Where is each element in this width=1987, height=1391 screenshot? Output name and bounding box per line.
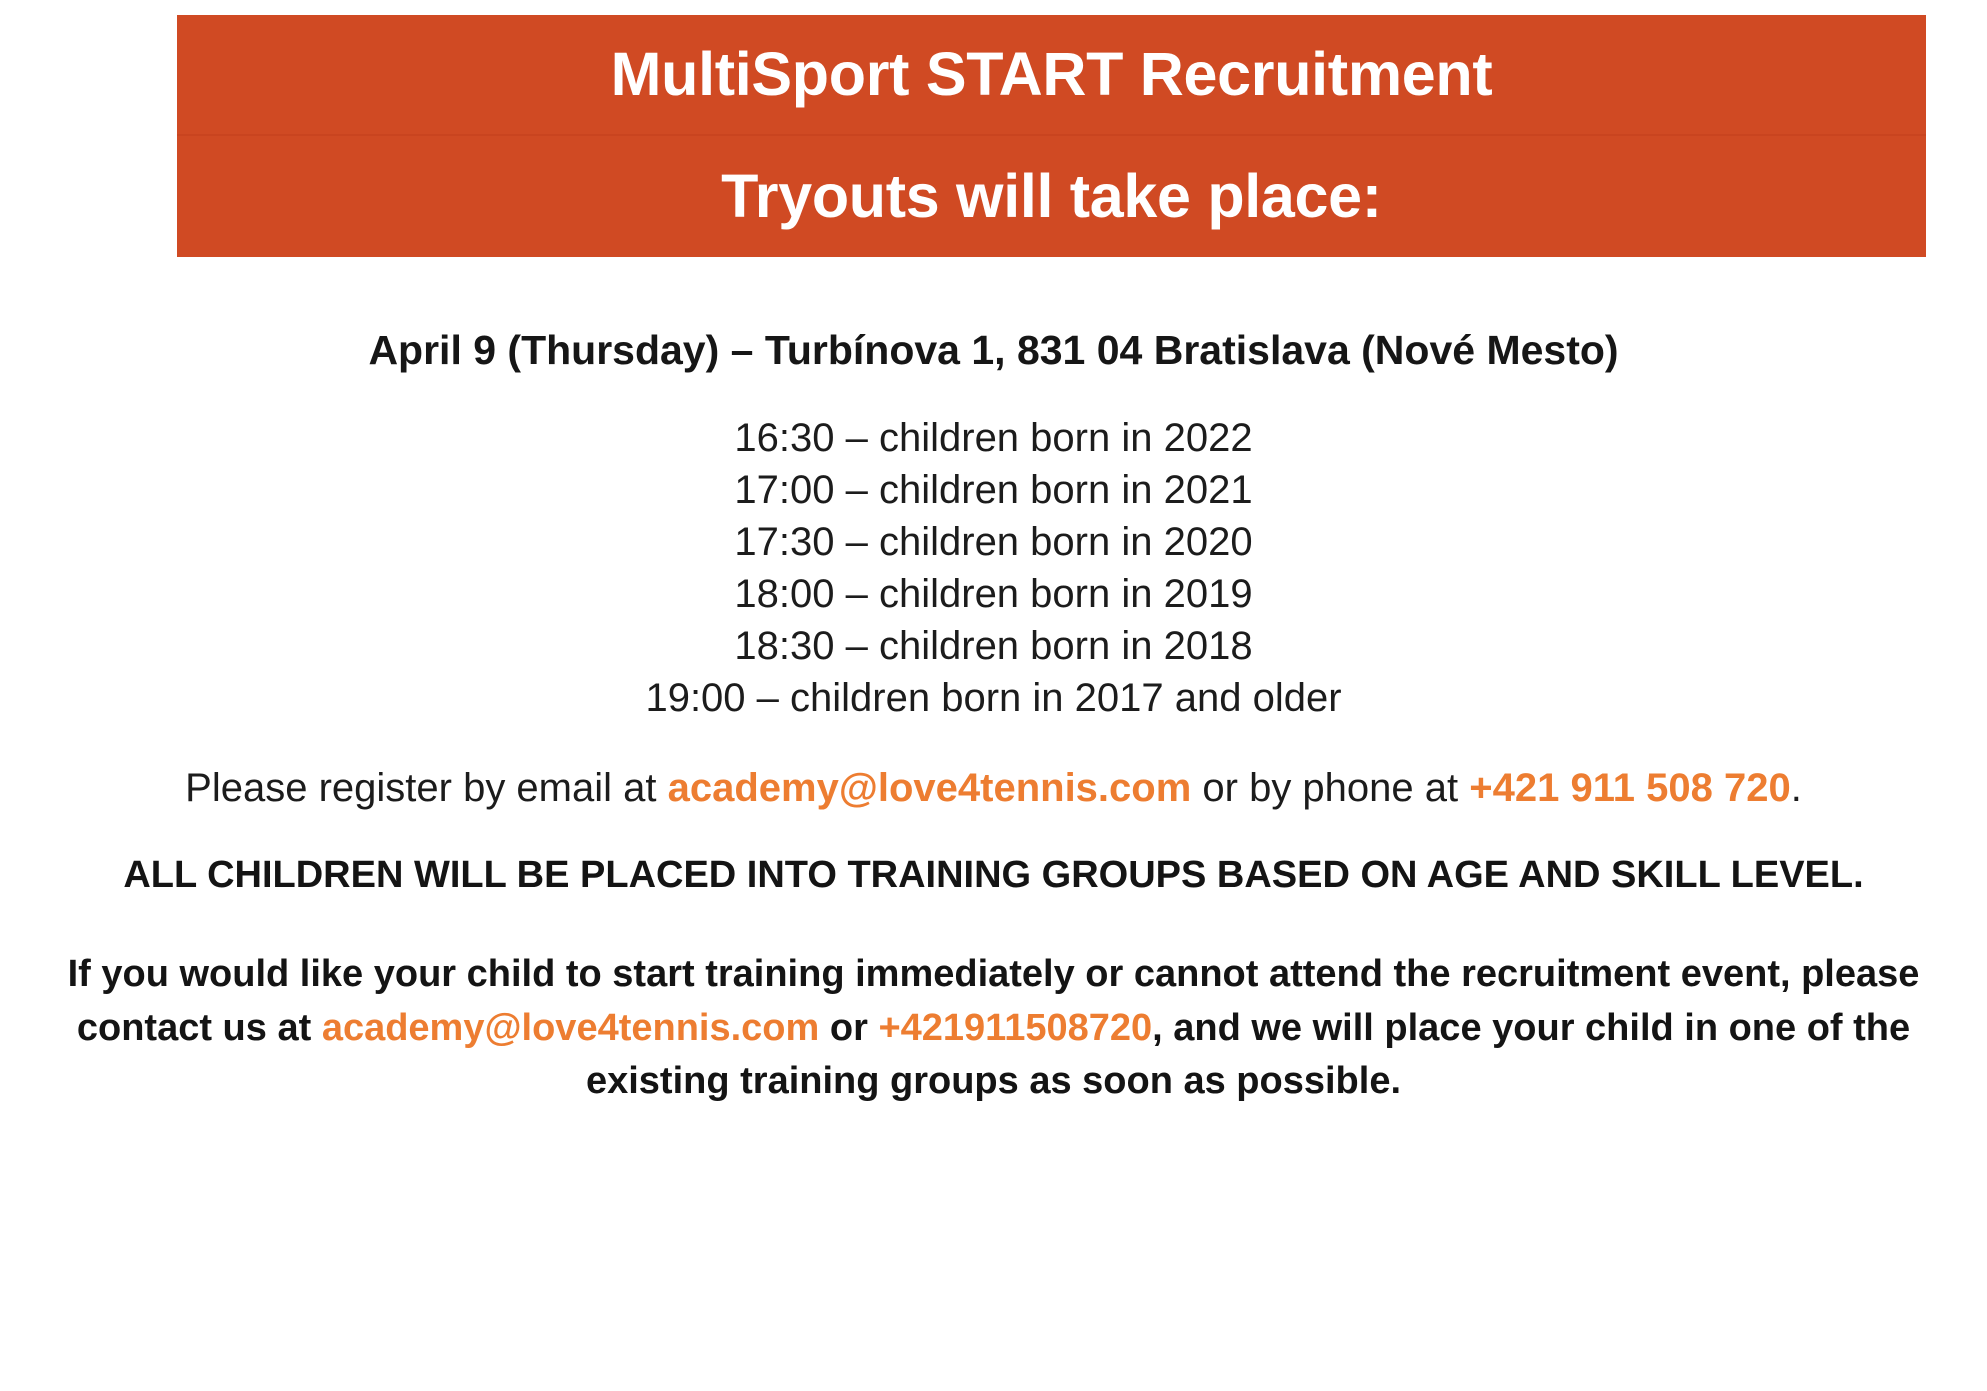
register-prefix-text: Please register by email at — [185, 766, 667, 810]
closing-phone-link[interactable]: +421911508720 — [878, 1007, 1152, 1049]
closing-email-link[interactable]: academy@love4tennis.com — [322, 1007, 820, 1049]
schedule-item: 18:00 – children born in 2019 — [0, 568, 1987, 620]
register-phone-link[interactable]: +421 911 508 720 — [1469, 766, 1790, 810]
schedule-item: 18:30 – children born in 2018 — [0, 620, 1987, 672]
flyer-page: MultiSport START Recruitment Tryouts wil… — [0, 0, 1987, 1391]
banner-row-title: MultiSport START Recruitment — [177, 15, 1926, 136]
tryout-schedule-list: 16:30 – children born in 2022 17:00 – ch… — [0, 412, 1987, 724]
register-suffix-text: . — [1791, 766, 1802, 810]
schedule-item: 17:00 – children born in 2021 — [0, 464, 1987, 516]
banner-row-subtitle: Tryouts will take place: — [177, 136, 1926, 257]
registration-contact-line: Please register by email at academy@love… — [0, 762, 1987, 814]
date-venue-line: April 9 (Thursday) – Turbínova 1, 831 04… — [0, 325, 1987, 376]
flyer-body: April 9 (Thursday) – Turbínova 1, 831 04… — [0, 257, 1987, 1109]
placement-note: ALL CHILDREN WILL BE PLACED INTO TRAININ… — [0, 850, 1987, 901]
schedule-item: 17:30 – children born in 2020 — [0, 516, 1987, 568]
schedule-item: 19:00 – children born in 2017 and older — [0, 672, 1987, 724]
banner-title-secondary: Tryouts will take place: — [721, 164, 1382, 228]
register-email-link[interactable]: academy@love4tennis.com — [668, 766, 1192, 810]
header-banner: MultiSport START Recruitment Tryouts wil… — [177, 15, 1926, 257]
closing-part-2-text: or — [819, 1007, 878, 1049]
closing-note: If you would like your child to start tr… — [0, 948, 1987, 1110]
register-middle-text: or by phone at — [1191, 766, 1469, 810]
banner-title-primary: MultiSport START Recruitment — [611, 42, 1493, 106]
schedule-item: 16:30 – children born in 2022 — [0, 412, 1987, 464]
